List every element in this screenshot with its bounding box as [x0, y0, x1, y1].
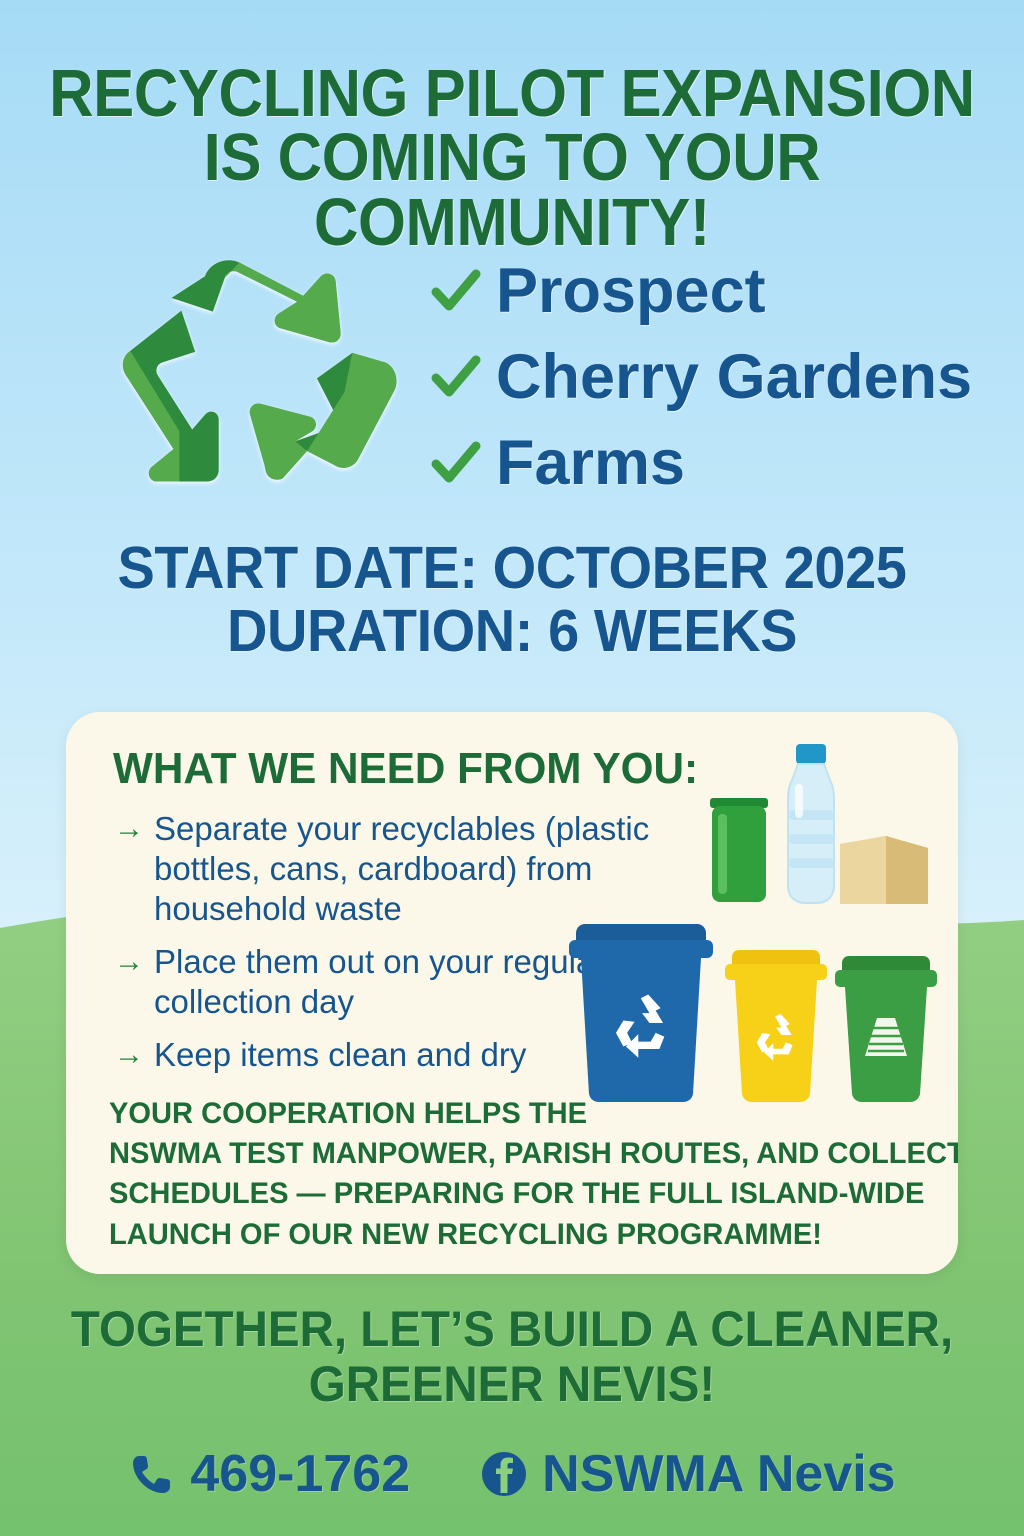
- blue-recycling-bin-icon: [569, 924, 713, 1102]
- cta-line-2: GREENER NEVIS!: [26, 1357, 999, 1412]
- check-icon: [430, 437, 496, 489]
- cooperation-note-line-4: LAUNCH OF OUR NEW RECYCLING PROGRAMME!: [109, 1215, 924, 1255]
- community-name: Farms: [496, 432, 685, 495]
- green-can-icon: [710, 798, 768, 902]
- green-paper-bin-icon: [835, 956, 937, 1102]
- community-name: Cherry Gardens: [496, 346, 972, 409]
- check-icon: [430, 265, 496, 317]
- arrow-right-icon: →: [108, 1035, 154, 1075]
- list-item: Cherry Gardens: [430, 334, 1000, 420]
- community-name: Prospect: [496, 260, 766, 323]
- cooperation-note-line-3: SCHEDULES — PREPARING FOR THE FULL ISLAN…: [109, 1174, 924, 1214]
- page-title: RECYCLING PILOT EXPANSION IS COMING TO Y…: [41, 62, 983, 255]
- recyclables-illustration: [690, 736, 940, 926]
- arrow-right-icon: →: [108, 809, 154, 849]
- check-icon: [430, 351, 496, 403]
- cardboard-box-icon: [840, 836, 928, 904]
- card-title: WHAT WE NEED FROM YOU:: [113, 744, 698, 794]
- bullet-text: Keep items clean and dry: [154, 1035, 526, 1075]
- contact-bar: 469-1762 NSWMA Nevis: [0, 1448, 1024, 1500]
- facebook-icon: [480, 1450, 528, 1498]
- list-item: Farms: [430, 420, 1000, 506]
- list-item: Prospect: [430, 248, 1000, 334]
- yellow-recycling-bin-icon: [725, 950, 827, 1102]
- phone-contact[interactable]: 469-1762: [128, 1448, 410, 1500]
- facebook-contact[interactable]: NSWMA Nevis: [480, 1448, 895, 1500]
- plastic-bottle-icon: [788, 744, 834, 903]
- duration-text: DURATION: 6 WEEKS: [26, 600, 999, 663]
- schedule-block: START DATE: OCTOBER 2025 DURATION: 6 WEE…: [26, 537, 999, 662]
- arrow-right-icon: →: [108, 942, 154, 982]
- phone-icon: [128, 1450, 176, 1498]
- recycling-poster: RECYCLING PILOT EXPANSION IS COMING TO Y…: [0, 0, 1024, 1536]
- recycling-bins-illustration: [561, 920, 951, 1102]
- cooperation-note-line-2: NSWMA TEST MANPOWER, PARISH ROUTES, AND …: [109, 1134, 924, 1174]
- community-list: Prospect Cherry Gardens Farms: [430, 248, 1000, 506]
- cooperation-note-line-1: YOUR COOPERATION HELPS THE: [109, 1094, 924, 1134]
- instructions-card: WHAT WE NEED FROM YOU: → Separate your r…: [66, 712, 958, 1274]
- start-date-text: START DATE: OCTOBER 2025: [26, 537, 999, 600]
- phone-number: 469-1762: [190, 1448, 410, 1500]
- cooperation-note: YOUR COOPERATION HELPS THE NSWMA TEST MA…: [109, 1094, 924, 1255]
- list-item: → Separate your recyclables (plastic bot…: [108, 809, 688, 929]
- call-to-action: TOGETHER, LET’S BUILD A CLEANER, GREENER…: [26, 1302, 999, 1412]
- cta-line-1: TOGETHER, LET’S BUILD A CLEANER,: [26, 1302, 999, 1357]
- headline-line-2: IS COMING TO YOUR COMMUNITY!: [41, 126, 983, 255]
- facebook-handle: NSWMA Nevis: [542, 1448, 895, 1500]
- bullet-text: Separate your recyclables (plastic bottl…: [154, 809, 674, 929]
- recycle-symbol-icon: [108, 235, 408, 510]
